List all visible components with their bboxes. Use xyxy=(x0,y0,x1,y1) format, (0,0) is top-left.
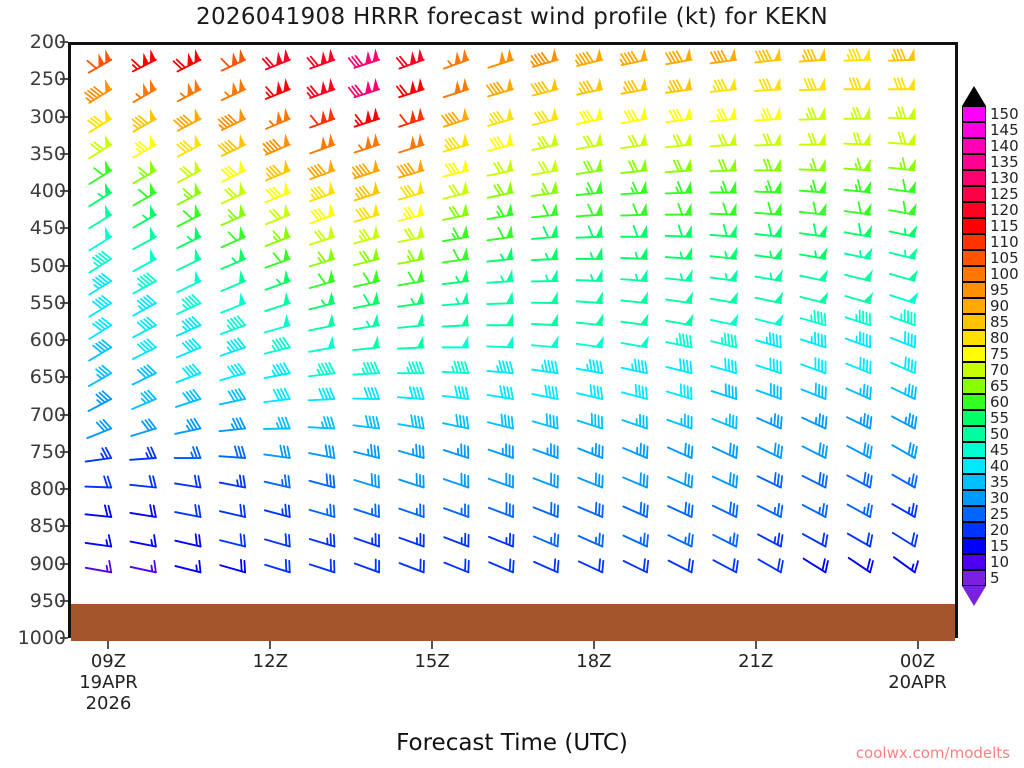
wind-barb xyxy=(264,418,290,429)
wind-barb xyxy=(89,227,111,251)
wind-barb xyxy=(756,314,784,326)
chart-title: 2026041908 HRRR forecast wind profile (k… xyxy=(0,4,1024,30)
wind-barb xyxy=(87,420,111,438)
wind-barb xyxy=(488,107,513,126)
wind-barb xyxy=(489,473,513,487)
wind-barb xyxy=(133,273,156,293)
y-axis-label: 950 xyxy=(30,590,66,612)
colorbar-segment xyxy=(962,218,986,234)
wind-barb xyxy=(889,158,916,170)
y-axis-label: 550 xyxy=(30,292,66,314)
wind-barb xyxy=(755,247,782,259)
wind-barb xyxy=(220,505,245,517)
wind-barb xyxy=(844,133,870,145)
wind-barb xyxy=(133,296,156,316)
wind-barb xyxy=(133,339,156,359)
wind-barb xyxy=(577,291,604,303)
wind-barb xyxy=(802,414,826,429)
wind-barb xyxy=(398,225,423,242)
y-axis-label: 650 xyxy=(30,366,66,388)
wind-barb xyxy=(803,504,827,517)
wind-barb xyxy=(265,338,290,354)
wind-barb xyxy=(397,78,424,97)
wind-barb xyxy=(443,415,468,429)
wind-barb xyxy=(711,247,738,259)
wind-barb xyxy=(266,159,290,180)
wind-barb xyxy=(755,133,781,146)
wind-barb xyxy=(532,386,557,399)
wind-barb xyxy=(893,533,917,547)
wind-barb xyxy=(177,226,200,248)
wind-barb xyxy=(666,334,691,348)
wind-barb xyxy=(532,336,559,348)
wind-barb xyxy=(443,362,469,374)
colorbar-segment xyxy=(962,490,986,506)
wind-barb xyxy=(89,134,111,158)
colorbar-segment xyxy=(962,378,986,394)
wind-barb xyxy=(890,225,918,237)
wind-barb xyxy=(178,79,201,102)
y-axis-label: 750 xyxy=(30,441,66,463)
wind-barb xyxy=(133,317,156,337)
wind-barb xyxy=(263,49,290,70)
wind-barb xyxy=(578,414,603,429)
wind-barb xyxy=(576,225,602,238)
wind-barb xyxy=(846,332,870,347)
wind-barb xyxy=(621,269,648,281)
wind-barb xyxy=(577,313,604,325)
wind-barb xyxy=(220,389,245,404)
wind-barb xyxy=(265,560,290,573)
wind-barb xyxy=(711,107,737,122)
x-axis-label: 21Z xyxy=(738,651,773,672)
colorbar-segment xyxy=(962,202,986,218)
wind-barb xyxy=(846,310,871,325)
wind-barb xyxy=(132,391,156,410)
colorbar-segment xyxy=(962,266,986,282)
wind-barb xyxy=(354,291,379,308)
wind-barb xyxy=(86,535,112,546)
wind-barb xyxy=(624,533,648,546)
wind-barb xyxy=(307,49,334,69)
wind-barb xyxy=(443,203,468,220)
x-axis-tick xyxy=(269,641,271,649)
wind-barb xyxy=(711,333,736,347)
wind-barb xyxy=(621,247,647,259)
wind-barb xyxy=(219,418,245,431)
wind-barb xyxy=(623,415,647,429)
wind-barb xyxy=(892,443,916,458)
wind-barb xyxy=(577,360,602,373)
wind-barb xyxy=(845,202,872,215)
wind-barb xyxy=(577,159,603,174)
wind-barb xyxy=(847,385,871,399)
wind-barb xyxy=(487,225,513,240)
wind-barb xyxy=(310,133,334,153)
wind-profile-chart: 2026041908 HRRR forecast wind profile (k… xyxy=(0,0,1024,768)
wind-barb xyxy=(444,534,468,547)
y-axis-label: 850 xyxy=(30,515,66,537)
wind-barb xyxy=(844,159,871,171)
y-axis-label: 900 xyxy=(30,553,66,575)
x-label-year: 2026 xyxy=(79,693,138,714)
wind-barb xyxy=(265,475,290,487)
y-axis: 2002503003504004505005506006507007508008… xyxy=(0,42,66,638)
wind-barb xyxy=(801,333,826,348)
wind-barb xyxy=(355,181,380,200)
wind-barb xyxy=(489,444,513,458)
wind-barb xyxy=(309,336,334,352)
wind-barb xyxy=(666,181,692,194)
wind-barb xyxy=(534,559,558,572)
x-axis-label: 15Z xyxy=(414,651,449,672)
wind-barb xyxy=(800,77,826,90)
wind-barb xyxy=(758,559,782,572)
wind-barb xyxy=(89,366,111,386)
wind-barb xyxy=(220,364,245,380)
wind-barb xyxy=(891,357,915,373)
wind-barb xyxy=(487,291,513,304)
wind-barb xyxy=(800,247,828,259)
wind-barb xyxy=(532,203,558,218)
wind-barb xyxy=(309,417,335,428)
wind-barb xyxy=(220,534,245,546)
wind-barb xyxy=(755,225,782,237)
x-axis-tick xyxy=(917,641,919,649)
watermark: coolwx.com/modelts xyxy=(856,744,1010,762)
wind-barb xyxy=(621,107,646,123)
wind-barb xyxy=(310,248,335,267)
wind-barb xyxy=(133,365,156,384)
colorbar-segment xyxy=(962,186,986,202)
wind-barb xyxy=(487,313,513,325)
wind-barb xyxy=(844,77,870,89)
wind-barb xyxy=(711,48,737,63)
wind-barb xyxy=(309,292,334,310)
wind-barb xyxy=(131,561,156,572)
wind-barb xyxy=(534,534,558,547)
wind-barb xyxy=(177,317,201,336)
wind-barb xyxy=(308,159,334,179)
colorbar-segment xyxy=(962,138,986,154)
wind-barb xyxy=(622,385,647,399)
wind-barb xyxy=(756,333,781,347)
wind-barb xyxy=(532,269,558,281)
colorbar-segment xyxy=(962,250,986,266)
wind-barb xyxy=(310,203,334,223)
colorbar-strip xyxy=(962,106,986,586)
wind-barb xyxy=(398,247,423,264)
wind-barb xyxy=(489,534,513,547)
wind-barb xyxy=(578,444,602,458)
wind-barb xyxy=(577,203,603,217)
wind-barb xyxy=(710,133,736,147)
wind-barb xyxy=(666,314,694,326)
wind-barb xyxy=(533,414,558,428)
wind-barb xyxy=(488,133,513,151)
x-axis-label: 09Z19APR2026 xyxy=(79,651,138,714)
colorbar-segment xyxy=(962,394,986,410)
wind-barb xyxy=(133,226,156,249)
wind-barb xyxy=(442,107,468,126)
wind-barb xyxy=(710,181,736,193)
wind-barb xyxy=(310,225,335,244)
wind-barb xyxy=(532,133,557,150)
wind-barb xyxy=(399,133,424,152)
wind-barb xyxy=(398,159,424,178)
wind-barb xyxy=(668,444,692,458)
wind-barb xyxy=(621,225,647,237)
x-label-time: 18Z xyxy=(576,651,611,672)
wind-barb xyxy=(398,269,423,285)
wind-barb xyxy=(532,181,558,196)
wind-barb xyxy=(713,559,737,572)
wind-barb xyxy=(711,77,737,92)
wind-barb xyxy=(802,443,826,458)
colorbar-segment xyxy=(962,106,986,122)
wind-barb xyxy=(488,159,513,176)
wind-barb xyxy=(757,414,781,428)
x-axis-tick xyxy=(755,641,757,649)
wind-barb xyxy=(221,248,245,269)
wind-barb xyxy=(577,78,602,95)
wind-barb xyxy=(178,160,201,183)
wind-barb xyxy=(532,225,558,239)
wind-barb xyxy=(444,133,469,152)
wind-barb xyxy=(399,474,424,488)
wind-barb xyxy=(849,558,873,572)
wind-barb xyxy=(800,107,826,120)
wind-barb xyxy=(488,414,513,428)
y-axis-label: 250 xyxy=(30,68,66,90)
wind-barb xyxy=(222,204,246,225)
wind-barb xyxy=(803,533,827,546)
wind-barb xyxy=(132,49,156,71)
wind-barb xyxy=(713,443,737,458)
wind-barb xyxy=(755,77,781,91)
wind-barb xyxy=(489,503,513,517)
wind-barb xyxy=(889,77,915,89)
wind-barb xyxy=(892,384,916,399)
wind-barb xyxy=(178,182,201,205)
wind-barb xyxy=(534,473,558,487)
wind-barb xyxy=(532,159,557,175)
wind-barb xyxy=(177,295,200,314)
wind-barb xyxy=(666,159,692,173)
wind-barb xyxy=(532,247,558,260)
wind-barb xyxy=(800,181,827,193)
wind-barb xyxy=(176,390,201,407)
wind-barb xyxy=(266,204,290,225)
wind-barb xyxy=(889,107,915,119)
wind-barb xyxy=(310,504,335,517)
wind-barb xyxy=(667,384,692,399)
wind-barb xyxy=(892,474,916,487)
wind-barb xyxy=(355,504,380,517)
wind-barb xyxy=(133,108,156,131)
wind-barb xyxy=(353,363,379,375)
wind-barb xyxy=(532,360,558,373)
wind-barb xyxy=(174,108,200,131)
wind-barb xyxy=(133,79,155,102)
wind-barb xyxy=(621,78,646,94)
wind-barb xyxy=(800,133,826,145)
wind-barb xyxy=(353,336,379,351)
wind-barb xyxy=(892,504,916,517)
wind-barb xyxy=(131,535,156,546)
wind-barb xyxy=(666,133,692,148)
colorbar-segment xyxy=(962,410,986,426)
wind-barb xyxy=(711,359,736,373)
wind-barb xyxy=(668,533,692,546)
wind-barb xyxy=(666,269,693,281)
wind-barb xyxy=(175,505,200,517)
y-axis-label: 400 xyxy=(30,180,66,202)
wind-barb xyxy=(666,291,693,303)
wind-barb xyxy=(130,447,156,459)
wind-barb xyxy=(848,533,872,546)
wind-barb xyxy=(400,559,424,572)
wind-barb xyxy=(755,48,781,63)
wind-barb xyxy=(577,385,602,399)
wind-barb xyxy=(758,533,782,546)
wind-barb xyxy=(221,292,245,313)
wind-barb xyxy=(579,559,603,572)
wind-barb xyxy=(310,181,334,201)
wind-barb xyxy=(399,504,423,517)
wind-barb xyxy=(800,224,827,237)
wind-barb xyxy=(444,474,468,488)
wind-barb xyxy=(133,182,155,205)
wind-barb xyxy=(848,504,872,517)
y-axis-label: 200 xyxy=(30,31,66,53)
wind-barb xyxy=(713,502,737,517)
wind-barb xyxy=(757,384,781,399)
wind-barb xyxy=(219,446,245,458)
colorbar-segment xyxy=(962,506,986,522)
wind-barb xyxy=(264,389,290,402)
wind-barb xyxy=(623,473,647,487)
wind-barb xyxy=(756,292,784,304)
wind-barb xyxy=(443,225,468,241)
wind-barb xyxy=(133,160,155,183)
wind-barb xyxy=(222,160,245,182)
wind-barb xyxy=(576,48,602,66)
wind-barb xyxy=(666,48,692,64)
wind-barb xyxy=(889,48,915,61)
colorbar-segment xyxy=(962,346,986,362)
wind-barb xyxy=(668,502,692,517)
wind-barb xyxy=(398,336,424,349)
wind-barb xyxy=(710,225,737,237)
colorbar-segment xyxy=(962,538,986,554)
wind-barb xyxy=(889,133,916,145)
wind-barb xyxy=(266,226,290,246)
wind-barb xyxy=(354,474,379,488)
wind-barb xyxy=(309,363,335,376)
wind-barb xyxy=(399,534,423,547)
y-axis-label: 500 xyxy=(30,255,66,277)
wind-barb xyxy=(443,159,468,177)
wind-barb xyxy=(621,291,648,303)
wind-barb xyxy=(890,292,918,303)
wind-barb xyxy=(713,473,737,488)
wind-barb xyxy=(354,247,379,265)
wind-barb xyxy=(398,313,424,328)
wind-barb xyxy=(487,386,513,399)
wind-barb xyxy=(89,274,111,295)
wind-barb xyxy=(532,313,558,325)
wind-barb xyxy=(309,388,335,400)
colorbar-under-arrow xyxy=(962,586,986,606)
wind-barb xyxy=(487,78,513,97)
wind-barb xyxy=(847,473,871,488)
wind-barb xyxy=(177,270,200,292)
wind-barb xyxy=(177,248,200,270)
wind-barb xyxy=(710,159,736,172)
wind-barb xyxy=(175,476,201,488)
wind-barb xyxy=(668,473,692,487)
y-axis-label: 450 xyxy=(30,217,66,239)
wind-barb xyxy=(88,109,111,133)
wind-barb xyxy=(174,49,201,71)
wind-barb xyxy=(310,534,335,547)
wind-barb xyxy=(845,224,873,237)
wind-barb xyxy=(133,248,156,271)
wind-barb xyxy=(845,269,873,281)
wind-barb xyxy=(349,78,379,97)
x-label-time: 12Z xyxy=(253,651,288,672)
wind-barb xyxy=(220,475,245,487)
wind-barb xyxy=(444,559,468,572)
wind-barb xyxy=(221,316,245,334)
wind-barb xyxy=(89,340,111,361)
x-label-time: 15Z xyxy=(414,651,449,672)
wind-barb xyxy=(758,504,782,517)
wind-barb xyxy=(758,473,782,488)
wind-barb xyxy=(802,383,826,399)
wind-barb xyxy=(800,269,828,281)
wind-barb xyxy=(443,313,469,326)
wind-barb xyxy=(666,77,692,92)
wind-barb xyxy=(175,561,200,573)
wind-barb xyxy=(666,225,692,237)
wind-barb xyxy=(309,314,334,331)
wind-barb xyxy=(443,269,469,284)
wind-barb xyxy=(847,443,871,458)
wind-barb xyxy=(88,391,111,411)
wind-barb xyxy=(801,358,825,373)
wind-barb xyxy=(891,310,915,325)
wind-barb xyxy=(399,181,424,200)
wind-barb xyxy=(756,358,781,373)
wind-barb xyxy=(577,336,604,348)
colorbar-segment xyxy=(962,154,986,170)
wind-barb xyxy=(755,107,781,121)
wind-barb xyxy=(309,445,334,458)
colorbar-segment xyxy=(962,442,986,458)
wind-barb xyxy=(621,181,647,195)
wind-barb xyxy=(443,181,468,199)
wind-barb xyxy=(667,359,692,373)
colorbar-segment xyxy=(962,474,986,490)
colorbar-segment xyxy=(962,234,986,250)
wind-barb xyxy=(87,49,111,72)
wind-barb xyxy=(221,270,245,291)
wind-barb xyxy=(221,49,245,71)
wind-barb xyxy=(712,414,736,428)
wind-barb xyxy=(177,134,200,157)
